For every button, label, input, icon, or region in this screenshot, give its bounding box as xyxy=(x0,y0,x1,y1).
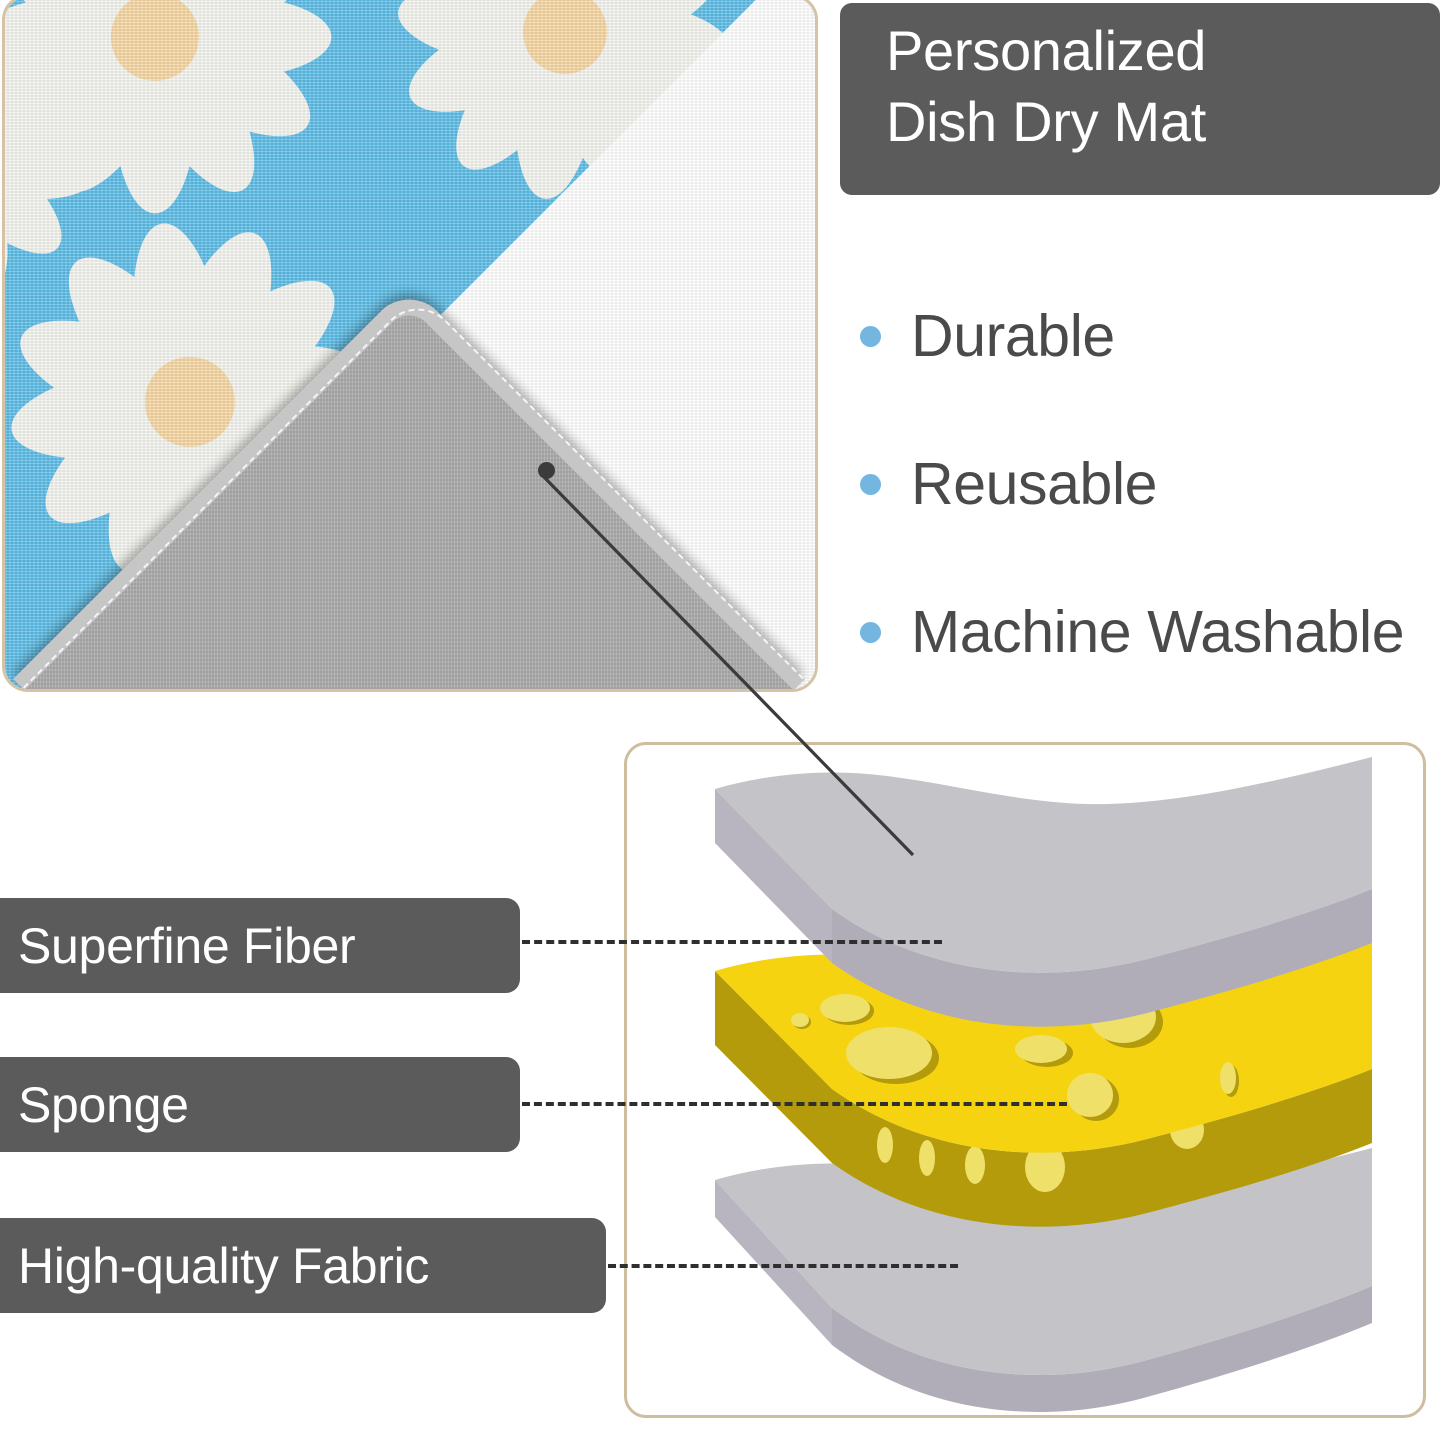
leader-line-sponge xyxy=(522,1102,1067,1106)
daisy-center-icon xyxy=(145,357,235,447)
feature-label-machine-washable: Machine Washable xyxy=(911,598,1404,666)
bullet-dot-icon xyxy=(860,474,881,495)
feature-item-durable: Durable xyxy=(860,262,1445,410)
feature-item-reusable: Reusable xyxy=(860,410,1445,558)
leader-line-high-quality-fabric xyxy=(608,1264,958,1268)
bullet-dot-icon xyxy=(860,622,881,643)
feature-item-machine-washable: Machine Washable xyxy=(860,558,1445,706)
microfiber-callout-dot xyxy=(538,462,555,479)
product-photo-panel xyxy=(2,0,818,692)
daisy-flower xyxy=(5,0,125,327)
page-title-banner: Personalized Dish Dry Mat xyxy=(840,3,1440,195)
layer-label-text-superfine-fiber: Superfine Fiber xyxy=(18,917,355,975)
page-title-line-1: Personalized xyxy=(886,16,1440,87)
exploded-layers-illustration xyxy=(627,745,1429,1421)
layer-label-high-quality-fabric: High-quality Fabric xyxy=(0,1218,606,1313)
layer-label-text-high-quality-fabric: High-quality Fabric xyxy=(18,1237,429,1295)
daisy-center-icon xyxy=(582,384,668,470)
feature-list: Durable Reusable Machine Washable xyxy=(860,262,1445,706)
layer-label-text-sponge: Sponge xyxy=(18,1076,189,1134)
layer-label-sponge: Sponge xyxy=(0,1057,520,1152)
layer-diagram-panel xyxy=(624,742,1426,1418)
daisy-flower xyxy=(365,0,765,232)
leader-line-superfine-fiber xyxy=(522,940,942,944)
feature-label-reusable: Reusable xyxy=(911,450,1157,518)
bullet-dot-icon xyxy=(860,326,881,347)
page-title-line-2: Dish Dry Mat xyxy=(886,87,1440,158)
feature-label-durable: Durable xyxy=(911,302,1115,370)
layer-label-superfine-fiber: Superfine Fiber xyxy=(0,898,520,993)
